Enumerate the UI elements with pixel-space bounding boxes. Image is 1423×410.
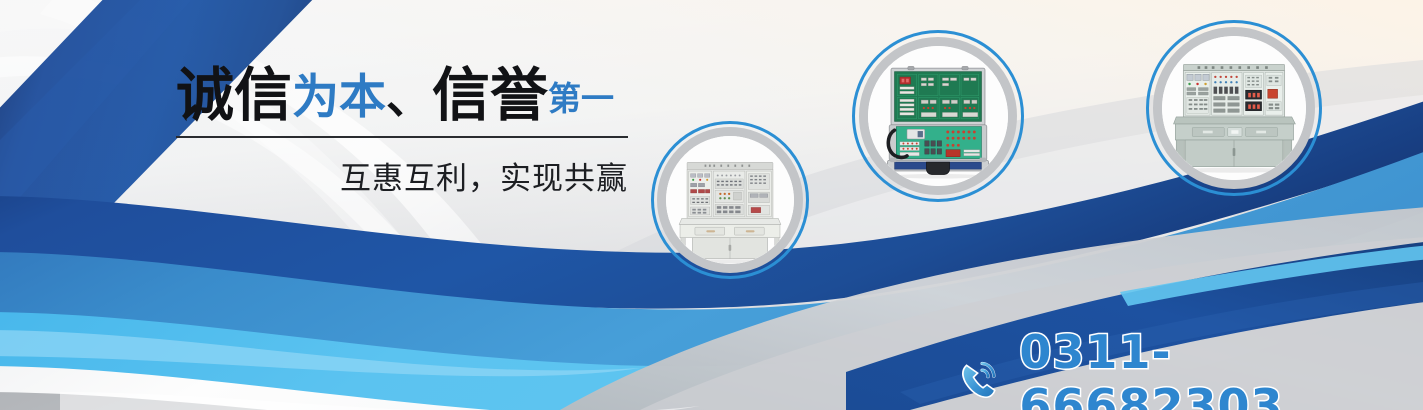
product-circle-1-gray-ring bbox=[657, 127, 803, 273]
headline-punctuation: 、 bbox=[386, 70, 432, 124]
product-photo-portable-electronics-trainer-case bbox=[868, 46, 1008, 186]
product-circle-2-gray-ring bbox=[859, 37, 1017, 195]
product-circle-2[interactable] bbox=[852, 30, 1024, 202]
contact-phone-block[interactable]: 0311-66682303 bbox=[955, 325, 1423, 410]
headline-divider bbox=[176, 136, 628, 138]
phone-number[interactable]: 0311-66682303 bbox=[1019, 325, 1423, 410]
phone-ring-icon bbox=[955, 353, 1005, 405]
headline-block: 诚信为本、信誉第一 互惠互利，实现共赢 bbox=[176, 66, 628, 198]
product-circle-1[interactable] bbox=[651, 121, 809, 279]
product-circle-3[interactable] bbox=[1146, 20, 1322, 196]
promotional-banner: 诚信为本、信誉第一 互惠互利，实现共赢 bbox=[0, 0, 1423, 410]
product-photo-motor-control-lab-bench bbox=[1162, 36, 1306, 180]
headline-part-3: 信誉 bbox=[432, 61, 548, 129]
product-circle-3-gray-ring bbox=[1153, 27, 1315, 189]
headline-part-4: 第一 bbox=[548, 79, 614, 118]
product-photo-electrical-training-workbench bbox=[666, 136, 794, 264]
headline-part-2: 为本 bbox=[292, 70, 386, 125]
headline-part-1: 诚信 bbox=[176, 61, 292, 129]
headline: 诚信为本、信誉第一 bbox=[176, 66, 628, 124]
subheadline: 互惠互利，实现共赢 bbox=[176, 153, 628, 198]
